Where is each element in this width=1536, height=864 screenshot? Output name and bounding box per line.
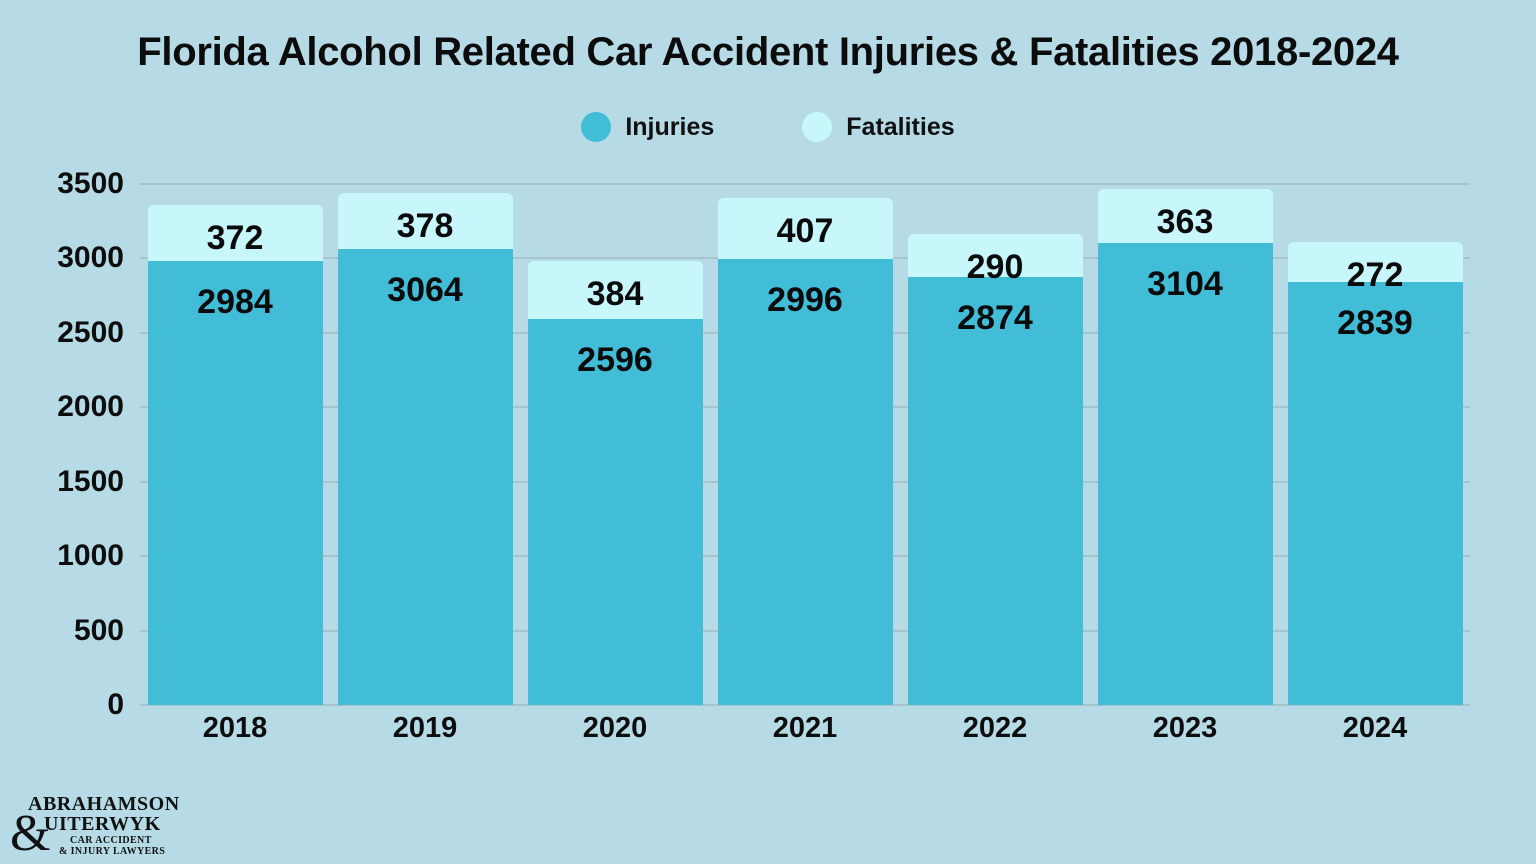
logo-line-1: ABRAHAMSON — [28, 794, 180, 814]
x-axis-tick-label: 2023 — [1098, 714, 1273, 743]
x-axis-tick-label: 2018 — [148, 714, 323, 743]
bar-series: 2984372306437825963842996407287429031043… — [140, 184, 1470, 705]
bar-segment-fatalities[interactable]: 272 — [1288, 242, 1463, 282]
bar-group[interactable]: 2984372 — [148, 205, 323, 705]
x-axis-tick-label: 2022 — [908, 714, 1083, 743]
bar-segment-injuries[interactable]: 2596 — [528, 319, 703, 705]
bar-group[interactable]: 2874290 — [908, 234, 1083, 705]
bar-value-fatalities: 363 — [1098, 205, 1273, 239]
bar-value-injuries: 3104 — [1098, 267, 1273, 301]
x-axis-tick-label: 2020 — [528, 714, 703, 743]
x-axis-tick-label: 2024 — [1288, 714, 1463, 743]
y-axis-tick-label: 0 — [14, 690, 124, 720]
bar-value-fatalities: 407 — [718, 214, 893, 248]
chart-legend: Injuries Fatalities — [0, 112, 1536, 142]
legend-label-injuries: Injuries — [625, 115, 714, 140]
x-axis-tick-label: 2019 — [338, 714, 513, 743]
bar-segment-fatalities[interactable]: 372 — [148, 205, 323, 260]
y-axis-tick-label: 3500 — [14, 169, 124, 199]
y-axis-tick-label: 3000 — [14, 243, 124, 273]
legend-item-injuries[interactable]: Injuries — [581, 112, 714, 142]
logo-line-2: UITERWYK — [44, 814, 161, 834]
y-axis-tick-label: 2000 — [14, 392, 124, 422]
bar-value-fatalities: 272 — [1288, 258, 1463, 292]
bar-value-injuries: 2984 — [148, 285, 323, 319]
x-axis-tick-label: 2021 — [718, 714, 893, 743]
bar-value-fatalities: 372 — [148, 221, 323, 255]
bar-value-injuries: 2839 — [1288, 306, 1463, 340]
legend-label-fatalities: Fatalities — [846, 115, 954, 140]
brand-logo[interactable]: & ABRAHAMSON UITERWYK CAR ACCIDENT & INJ… — [10, 788, 185, 858]
bar-segment-fatalities[interactable]: 378 — [338, 193, 513, 249]
bar-value-fatalities: 378 — [338, 209, 513, 243]
bar-segment-fatalities[interactable]: 290 — [908, 234, 1083, 277]
logo-line-4: & INJURY LAWYERS — [59, 846, 165, 858]
bar-value-injuries: 2874 — [908, 301, 1083, 335]
plot-area: 2984372306437825963842996407287429031043… — [140, 184, 1470, 705]
bar-value-injuries: 3064 — [338, 273, 513, 307]
bar-value-fatalities: 384 — [528, 277, 703, 311]
bar-segment-fatalities[interactable]: 407 — [718, 198, 893, 259]
bar-value-injuries: 2996 — [718, 283, 893, 317]
bar-segment-injuries[interactable]: 3104 — [1098, 243, 1273, 705]
bar-segment-fatalities[interactable]: 363 — [1098, 189, 1273, 243]
logo-line-3: CAR ACCIDENT — [70, 835, 152, 847]
legend-swatch-fatalities-icon — [802, 112, 832, 142]
bar-segment-fatalities[interactable]: 384 — [528, 261, 703, 318]
y-axis-tick-label: 2500 — [14, 318, 124, 348]
bar-segment-injuries[interactable]: 2839 — [1288, 282, 1463, 705]
chart-container: Florida Alcohol Related Car Accident Inj… — [0, 0, 1536, 864]
bar-value-fatalities: 290 — [908, 250, 1083, 284]
bar-value-injuries: 2596 — [528, 343, 703, 377]
legend-swatch-injuries-icon — [581, 112, 611, 142]
bar-segment-injuries[interactable]: 2984 — [148, 261, 323, 705]
bar-segment-injuries[interactable]: 3064 — [338, 249, 513, 705]
bar-group[interactable]: 2596384 — [528, 261, 703, 705]
bar-group[interactable]: 3104363 — [1098, 189, 1273, 705]
bar-group[interactable]: 2839272 — [1288, 242, 1463, 705]
y-axis-tick-label: 1000 — [14, 541, 124, 571]
y-axis-tick-label: 1500 — [14, 467, 124, 497]
legend-item-fatalities[interactable]: Fatalities — [802, 112, 954, 142]
y-axis-tick-label: 500 — [14, 616, 124, 646]
page-title: Florida Alcohol Related Car Accident Inj… — [0, 30, 1536, 75]
bar-group[interactable]: 3064378 — [338, 193, 513, 705]
bar-group[interactable]: 2996407 — [718, 198, 893, 705]
bar-segment-injuries[interactable]: 2874 — [908, 277, 1083, 705]
bar-segment-injuries[interactable]: 2996 — [718, 259, 893, 705]
